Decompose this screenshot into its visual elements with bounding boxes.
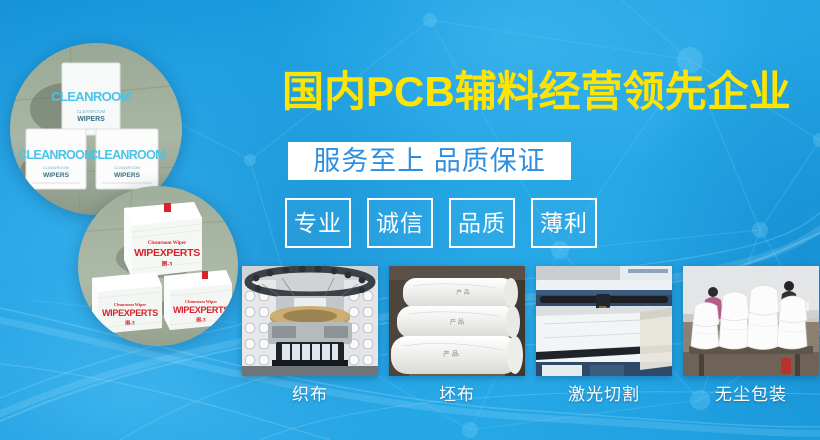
keyword-tag[interactable]: 品质 xyxy=(449,198,515,248)
svg-text:WIPEXPERTS: WIPEXPERTS xyxy=(134,247,200,259)
svg-text:WIPERS: WIPERS xyxy=(43,172,70,179)
keyword-tag-label: 薄利 xyxy=(540,212,588,235)
process-photo-caption: 激光切割 xyxy=(568,386,640,403)
process-photo-item[interactable]: 激光切割 xyxy=(536,266,672,403)
keyword-tag-list: 专业 诚信 品质 薄利 xyxy=(285,198,597,248)
svg-text:CLEANROOM: CLEANROOM xyxy=(114,165,140,170)
promo-banner: CLEANROOM CLEANROOM WIPERS CLEANROOM CLE… xyxy=(0,0,820,440)
svg-text:图-3: 图-3 xyxy=(196,317,206,324)
keyword-tag-label: 品质 xyxy=(458,212,506,235)
svg-text:CLEANROOM: CLEANROOM xyxy=(43,165,69,170)
wipexperts-photo: Cleanroom Wiper WIPEXPERTS 图-3 Cleanroom… xyxy=(78,186,238,346)
greige-fabric-rolls-photo: 产 品 产 品 产 品 xyxy=(389,266,525,376)
page-title: 国内PCB辅料经营领先企业 xyxy=(282,71,782,113)
process-photo-item[interactable]: 产 品 产 品 产 品 xyxy=(389,266,525,403)
laser-cutting-machine-photo xyxy=(536,266,672,376)
keyword-tag[interactable]: 诚信 xyxy=(367,198,433,248)
svg-text:Cleanroom Wiper: Cleanroom Wiper xyxy=(148,241,187,246)
process-photo-item[interactable]: 织布 xyxy=(242,266,378,403)
subtitle-text: 服务至上 品质保证 xyxy=(313,148,546,175)
svg-text:WIPERS: WIPERS xyxy=(114,172,141,179)
keyword-tag-label: 诚信 xyxy=(376,212,424,235)
process-photo-item[interactable]: 无尘包装 xyxy=(683,266,819,403)
process-photo-caption: 坯布 xyxy=(439,386,475,403)
process-photo-caption: 织布 xyxy=(292,386,328,403)
subtitle-plaque: 服务至上 品质保证 xyxy=(288,142,571,180)
svg-text:CLEANROOM: CLEANROOM xyxy=(18,148,94,162)
cleanroom-packaging-photo xyxy=(683,266,819,376)
svg-text:产 品: 产 品 xyxy=(443,349,459,359)
process-photo-caption: 无尘包装 xyxy=(715,386,787,403)
svg-text:CLEANROOM: CLEANROOM xyxy=(51,89,131,104)
svg-text:图-3: 图-3 xyxy=(162,260,173,268)
svg-text:WIPERS: WIPERS xyxy=(77,116,105,123)
process-photo-strip: 织布 xyxy=(242,266,819,403)
svg-text:WIPEXPERTS: WIPEXPERTS xyxy=(173,305,229,315)
keyword-tag[interactable]: 专业 xyxy=(285,198,351,248)
svg-text:Cleanroom Wiper: Cleanroom Wiper xyxy=(114,302,146,307)
svg-text:Cleanroom Wiper: Cleanroom Wiper xyxy=(185,299,217,304)
keyword-tag[interactable]: 薄利 xyxy=(531,198,597,248)
weaving-machine-photo xyxy=(242,266,378,376)
keyword-tag-label: 专业 xyxy=(294,212,342,235)
svg-text:CLEANROOM: CLEANROOM xyxy=(89,148,165,162)
svg-text:WIPEXPERTS: WIPEXPERTS xyxy=(102,308,158,318)
svg-text:图-3: 图-3 xyxy=(125,320,135,327)
svg-text:CLEANROOM: CLEANROOM xyxy=(77,109,106,114)
